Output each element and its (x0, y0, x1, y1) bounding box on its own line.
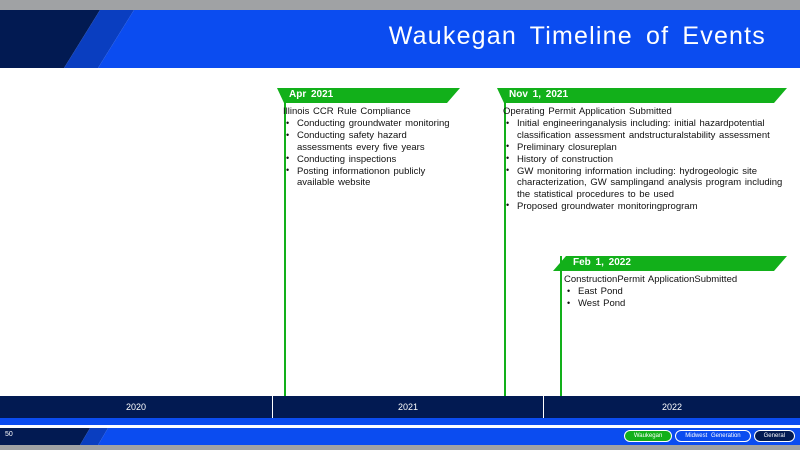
list-item: East Pond (564, 286, 787, 298)
event-date-label: Apr 2021 (289, 89, 333, 100)
year-segment-2021: 2021 (273, 396, 543, 418)
list-item: Proposed groundwater monitoringprogram (503, 201, 787, 213)
timeline-event-card[interactable]: Apr 2021 Illinois CCR Rule Compliance Co… (277, 88, 460, 189)
axis-blue-underline (0, 418, 800, 425)
page-number: 50 (5, 431, 13, 438)
event-subtitle: Operating Permit Application Submitted (503, 106, 787, 117)
slide-canvas: Waukegan Timeline of Events Apr 2021 Ill… (0, 0, 800, 450)
timeline-event-card[interactable]: Nov 1, 2021 Operating Permit Application… (497, 88, 787, 213)
list-item: Conducting inspections (283, 154, 460, 166)
event-date-label: Feb 1, 2022 (573, 257, 631, 268)
event-card-body: ConstructionPermit ApplicationSubmitted … (553, 271, 787, 310)
year-segment-2022: 2022 (544, 396, 800, 418)
list-item: Conducting safety hazard assessments eve… (283, 130, 460, 153)
year-segment-2020: 2020 (0, 396, 272, 418)
event-date-banner: Nov 1, 2021 (497, 88, 787, 103)
list-item: Posting informationon publicly available… (283, 166, 460, 189)
top-gray-strip (0, 0, 800, 10)
nav-pill-waukegan[interactable]: Waukegan (624, 430, 672, 442)
list-item: GW monitoring information including: hyd… (503, 166, 787, 201)
event-bullet-list: Conducting groundwater monitoring Conduc… (283, 118, 460, 189)
slide-header: Waukegan Timeline of Events (0, 10, 800, 68)
timeline-event-card[interactable]: Feb 1, 2022 ConstructionPermit Applicati… (553, 256, 787, 310)
event-subtitle: ConstructionPermit ApplicationSubmitted (564, 274, 787, 285)
timeline-year-axis: 2020 2021 2022 (0, 396, 800, 418)
slide-footer: 50 Waukegan Midwest Generation General (0, 428, 800, 450)
event-date-label: Nov 1, 2021 (509, 89, 568, 100)
nav-pill-general[interactable]: General (754, 430, 795, 442)
event-subtitle: Illinois CCR Rule Compliance (283, 106, 460, 117)
list-item: Initial engineeringanalysis including: i… (503, 118, 787, 141)
event-card-body: Operating Permit Application Submitted I… (497, 103, 787, 212)
list-item: History of construction (503, 154, 787, 166)
event-date-banner: Apr 2021 (277, 88, 460, 103)
list-item: West Pond (564, 298, 787, 310)
event-bullet-list: East Pond West Pond (564, 286, 787, 310)
list-item: Conducting groundwater monitoring (283, 118, 460, 130)
event-bullet-list: Initial engineeringanalysis including: i… (503, 118, 787, 212)
footer-nav-pills: Waukegan Midwest Generation General (624, 430, 795, 442)
page-title: Waukegan Timeline of Events (389, 22, 766, 51)
list-item: Preliminary closureplan (503, 142, 787, 154)
event-date-banner: Feb 1, 2022 (553, 256, 787, 271)
nav-pill-midwest-generation[interactable]: Midwest Generation (675, 430, 750, 442)
event-card-body: Illinois CCR Rule Compliance Conducting … (277, 103, 460, 189)
footer-gray-strip (0, 445, 800, 450)
